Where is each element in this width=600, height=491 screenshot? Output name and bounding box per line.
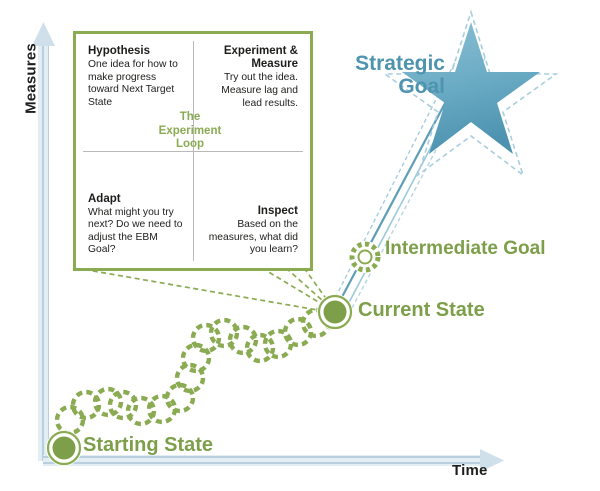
quadrant-inspect: Inspect Based on the measures, what did … [193,197,307,265]
quadrant-adapt: Adapt What might you try next? Do we nee… [79,185,193,265]
current-state-node [317,294,353,330]
callout-leader-lines [76,268,333,312]
quadrant-body: Based on the measures, what did you lear… [202,219,298,257]
experiment-loop-hub: The Experiment Loop [152,97,228,173]
quadrant-title: Experiment & Measure [202,45,298,71]
starting-state-label: Starting State [83,434,213,456]
quadrant-title: Adapt [88,193,184,206]
x-axis-label: Time [452,462,488,479]
starting-state-node [46,430,82,466]
progress-trail [57,310,329,433]
diagram-canvas: Measures Time Hypothesis One idea for ho… [0,0,600,491]
quadrant-body: What might you try next? Do we need to a… [88,207,184,257]
strategic-goal-label: Strategic Goal [327,52,445,98]
experiment-loop-label: The Experiment Loop [152,111,228,152]
y-axis-label: Measures [23,34,40,124]
intermediate-goal-label: Intermediate Goal [385,238,546,259]
intermediate-goal-node [351,243,380,272]
quadrant-title: Inspect [202,205,298,218]
quadrant-title: Hypothesis [88,45,184,58]
current-state-label: Current State [358,299,485,321]
